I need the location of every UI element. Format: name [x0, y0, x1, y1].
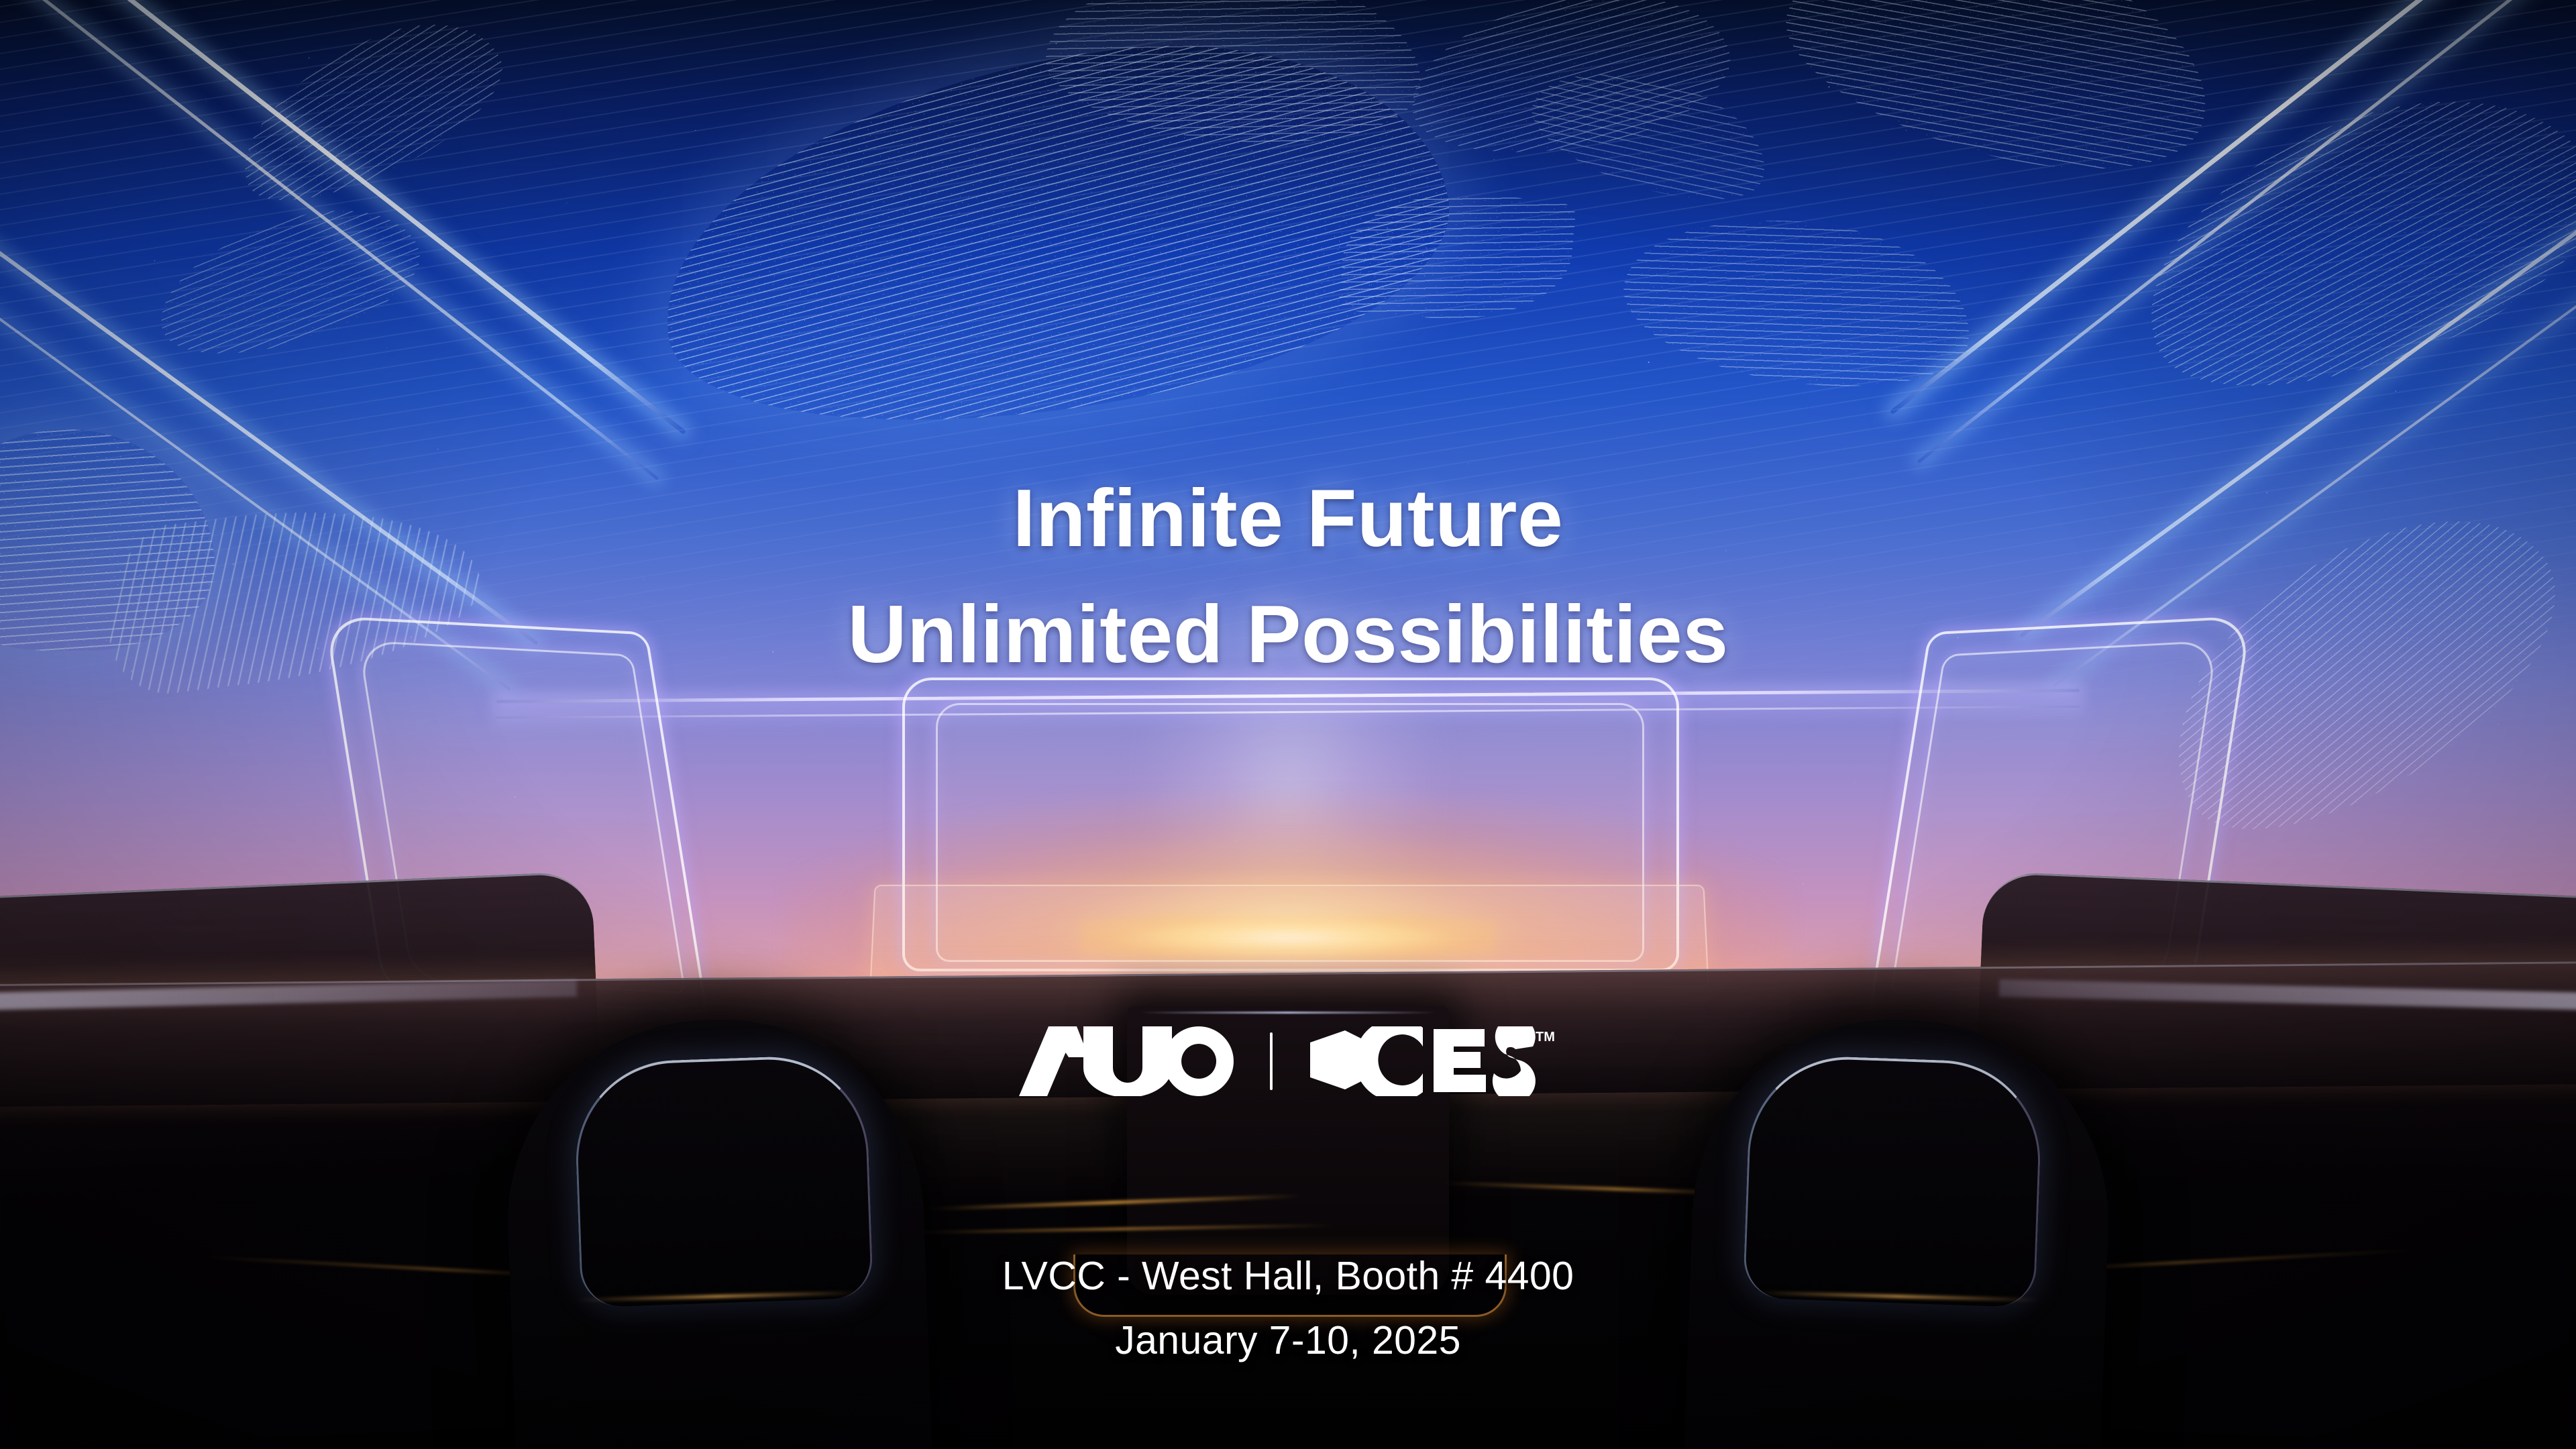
- logo-lockup: TM: [0, 1026, 2576, 1096]
- ces-logo: TM: [1309, 1026, 1557, 1096]
- event-dates: January 7-10, 2025: [0, 1309, 2576, 1373]
- auo-logo: [1019, 1026, 1234, 1096]
- headline: Infinite Future Unlimited Possibilities: [0, 460, 2576, 692]
- logo-divider: [1270, 1032, 1273, 1090]
- headline-line-2: Unlimited Possibilities: [0, 576, 2576, 692]
- sun-core-glow: [1080, 914, 1496, 961]
- event-info: LVCC - West Hall, Booth # 4400 January 7…: [0, 1244, 2576, 1373]
- key-visual-canvas: Infinite Future Unlimited Possibilities: [0, 0, 2576, 1449]
- ces-trademark-mark: TM: [1536, 1030, 1555, 1044]
- headline-line-1: Infinite Future: [0, 460, 2576, 576]
- event-venue: LVCC - West Hall, Booth # 4400: [0, 1244, 2576, 1309]
